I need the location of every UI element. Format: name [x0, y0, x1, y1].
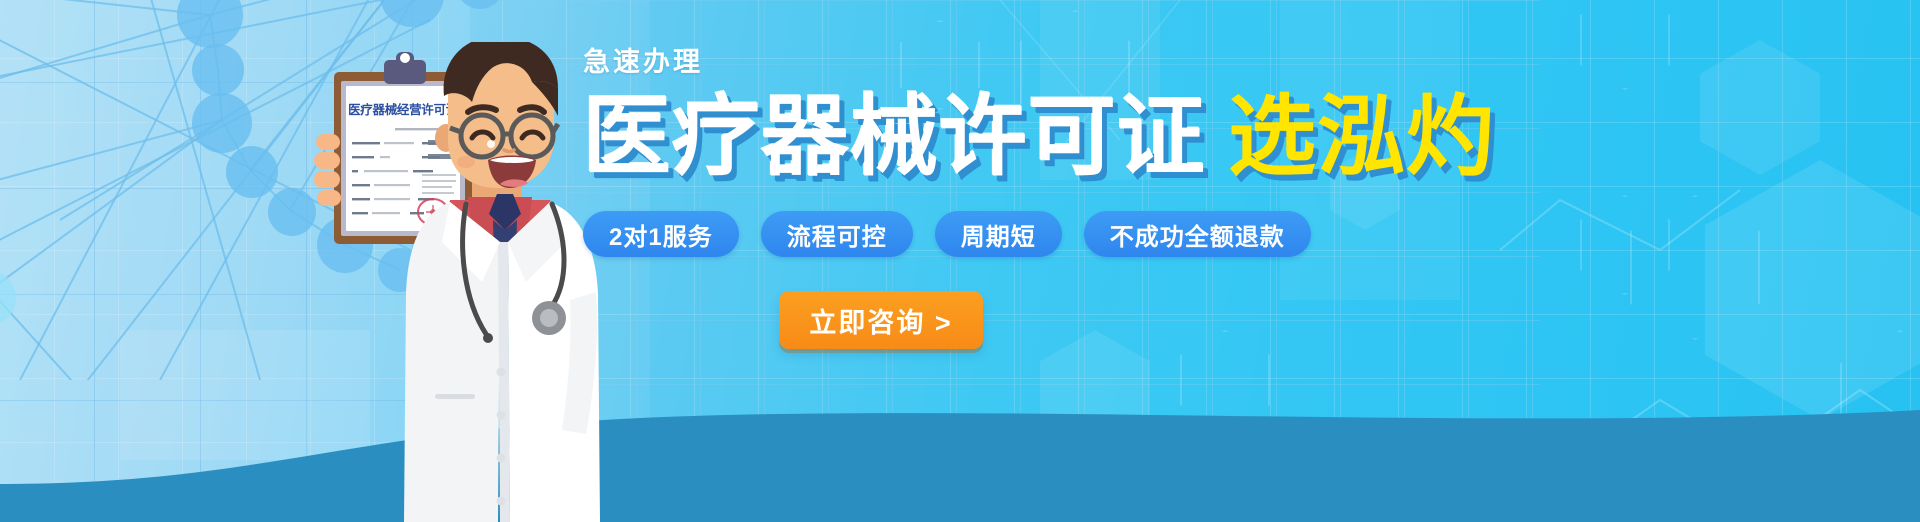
background-wave	[0, 372, 1920, 522]
banner-copy: 急速办理 医疗器械许可证 选泓灼 2对1服务 流程可控 周期短 不成功全额退款 …	[583, 40, 1883, 349]
feature-tag-2[interactable]: 流程可控	[761, 211, 913, 257]
consult-now-button[interactable]: 立即咨询 >	[779, 291, 983, 349]
feature-tag-list: 2对1服务 流程可控 周期短 不成功全额退款	[583, 211, 1883, 257]
headline: 医疗器械许可证 选泓灼	[583, 93, 1883, 181]
promo-banner: 医疗器械经营许可证	[0, 0, 1920, 522]
feature-tag-3[interactable]: 周期短	[935, 211, 1062, 257]
svg-text:医疗器械经营许可证: 医疗器械经营许可证	[348, 102, 459, 117]
feature-tag-1[interactable]: 2对1服务	[583, 211, 739, 257]
eyebrow-text: 急速办理	[583, 40, 1883, 79]
headline-accent: 选泓灼	[1228, 93, 1495, 181]
cta-row: 立即咨询 >	[583, 291, 1883, 349]
feature-tag-4[interactable]: 不成功全额退款	[1084, 211, 1311, 257]
doctor-body	[319, 150, 600, 522]
headline-main: 医疗器械许可证	[583, 93, 1206, 181]
